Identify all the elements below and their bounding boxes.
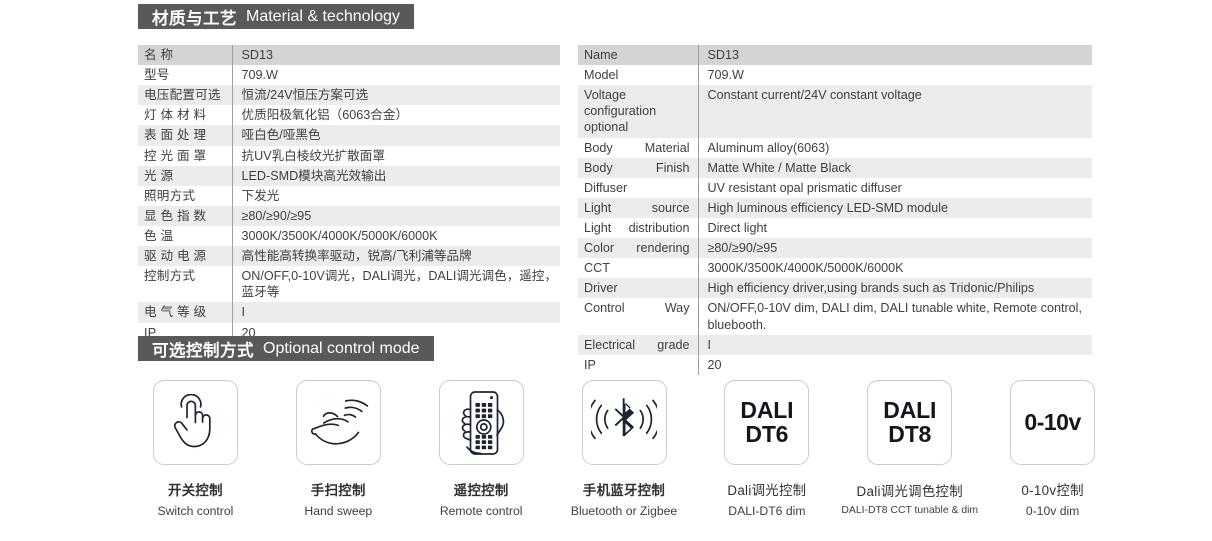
control-mode-card: 开关控制Switch control bbox=[124, 380, 267, 530]
control-mode-label-en: DALI-DT6 dim bbox=[728, 504, 805, 518]
hand-sweep-icon bbox=[307, 396, 369, 450]
spec-label: Diffuser bbox=[578, 178, 698, 198]
spec-value: UV resistant opal prismatic diffuser bbox=[698, 178, 1092, 198]
dali-dt8-icon-box: DALIDT8 bbox=[867, 380, 952, 465]
spec-label: 驱 动 电 源 bbox=[138, 246, 232, 266]
spec-label: 控制方式 bbox=[138, 266, 232, 302]
zero-ten-volt-icon-box: 0-10v bbox=[1010, 380, 1095, 465]
spec-value: 抗UV乳白棱纹光扩散面罩 bbox=[232, 146, 560, 166]
spec-label: 电 气 等 级 bbox=[138, 302, 232, 322]
dali-line-2: DT6 bbox=[740, 423, 793, 446]
control-mode-label-en: Hand sweep bbox=[304, 504, 372, 518]
control-mode-label-cn: Dali调光调色控制 bbox=[857, 480, 963, 500]
spec-label: Body Finish bbox=[578, 158, 698, 178]
spec-value: 下发光 bbox=[232, 186, 560, 206]
spec-value: 哑白色/哑黑色 bbox=[232, 125, 560, 145]
spec-label: Voltage configuration optional bbox=[578, 85, 698, 137]
table-row: 表 面 处 理哑白色/哑黑色 bbox=[138, 125, 560, 145]
spec-label: Driver bbox=[578, 278, 698, 298]
control-mode-label-en: Bluetooth or Zigbee bbox=[571, 504, 677, 518]
control-mode-labels: Dali调光控制DALI-DT6 dim bbox=[695, 479, 838, 517]
remote-in-hand-icon-box bbox=[439, 380, 524, 465]
table-row: 控 光 面 罩抗UV乳白棱纹光扩散面罩 bbox=[138, 146, 560, 166]
spec-label: Control Way bbox=[578, 298, 698, 334]
control-mode-card: DALIDT6Dali调光控制DALI-DT6 dim bbox=[695, 380, 838, 530]
remote-in-hand-icon bbox=[450, 388, 512, 458]
spec-label: Electrical grade bbox=[578, 335, 698, 355]
table-row: Voltage configuration optionalConstant c… bbox=[578, 85, 1092, 137]
dali-dt8-icon: DALIDT8 bbox=[883, 399, 936, 446]
control-mode-label-cn: 遥控控制 bbox=[454, 479, 509, 499]
table-row: Color rendering≥80/≥90/≥95 bbox=[578, 238, 1092, 258]
control-mode-card: 手机蓝牙控制Bluetooth or Zigbee bbox=[553, 380, 696, 530]
spec-label: Color rendering bbox=[578, 238, 698, 258]
spec-table-english: NameSD13Model709.WVoltage configuration … bbox=[578, 45, 1092, 375]
table-row: CCT3000K/3500K/4000K/5000K/6000K bbox=[578, 258, 1092, 278]
spec-value: I bbox=[232, 302, 560, 322]
spec-value: High luminous efficiency LED-SMD module bbox=[698, 198, 1092, 218]
control-mode-labels: Dali调光调色控制DALI-DT8 CCT tunable & dim bbox=[838, 479, 981, 517]
spec-table-english-body: NameSD13Model709.WVoltage configuration … bbox=[578, 45, 1092, 375]
table-row: Control WayON/OFF,0-10V dim, DALI dim, D… bbox=[578, 298, 1092, 334]
spec-value: LED-SMD模块高光效输出 bbox=[232, 166, 560, 186]
spec-label: CCT bbox=[578, 258, 698, 278]
spec-label: 显 色 指 数 bbox=[138, 206, 232, 226]
control-mode-label-cn: Dali调光控制 bbox=[727, 479, 806, 499]
spec-label: 光 源 bbox=[138, 166, 232, 186]
table-row: DriverHigh efficiency driver,using brand… bbox=[578, 278, 1092, 298]
spec-label: Name bbox=[578, 45, 698, 65]
tap-finger-icon-box bbox=[153, 380, 238, 465]
dali-line-2: DT8 bbox=[883, 423, 936, 446]
table-row: 照明方式下发光 bbox=[138, 186, 560, 206]
spec-label: 电压配置可选 bbox=[138, 85, 232, 105]
spec-label: 控 光 面 罩 bbox=[138, 146, 232, 166]
section-banner-control-en: Optional control mode bbox=[263, 340, 420, 358]
table-row: Body MaterialAluminum alloy(6063) bbox=[578, 138, 1092, 158]
table-row: 电压配置可选恒流/24V恒压方案可选 bbox=[138, 85, 560, 105]
spec-value: ≥80/≥90/≥95 bbox=[232, 206, 560, 226]
bluetooth-waves-icon-box bbox=[582, 380, 667, 465]
spec-label: 色 温 bbox=[138, 226, 232, 246]
spec-label: 表 面 处 理 bbox=[138, 125, 232, 145]
spec-value: Matte White / Matte Black bbox=[698, 158, 1092, 178]
zero-ten-volt-icon: 0-10v bbox=[1024, 409, 1080, 436]
table-row: IP20 bbox=[578, 355, 1092, 375]
control-mode-label-en: 0-10v dim bbox=[1026, 504, 1080, 518]
table-row: DiffuserUV resistant opal prismatic diff… bbox=[578, 178, 1092, 198]
tap-finger-icon bbox=[168, 394, 222, 452]
table-row: 灯 体 材 料优质阳极氧化铝（6063合金） bbox=[138, 105, 560, 125]
spec-value: Aluminum alloy(6063) bbox=[698, 138, 1092, 158]
spec-value: 709.W bbox=[698, 65, 1092, 85]
spec-label: 名 称 bbox=[138, 45, 232, 65]
control-mode-label-cn: 手机蓝牙控制 bbox=[583, 479, 665, 499]
table-row: Model709.W bbox=[578, 65, 1092, 85]
section-banner-control: 可选控制方式 Optional control mode bbox=[138, 336, 434, 361]
table-row: 控制方式ON/OFF,0-10V调光，DALI调光，DALI调光调色，遥控，蓝牙… bbox=[138, 266, 560, 302]
product-spec-sheet: 材质与工艺 Material & technology 名 称SD13型号709… bbox=[0, 0, 1212, 541]
table-row: 名 称SD13 bbox=[138, 45, 560, 65]
spec-label: 灯 体 材 料 bbox=[138, 105, 232, 125]
table-row: Body FinishMatte White / Matte Black bbox=[578, 158, 1092, 178]
spec-value: ≥80/≥90/≥95 bbox=[698, 238, 1092, 258]
table-row: 光 源LED-SMD模块高光效输出 bbox=[138, 166, 560, 186]
spec-label: Light distribution bbox=[578, 218, 698, 238]
dali-dt6-icon: DALIDT6 bbox=[740, 399, 793, 446]
control-mode-label-en: DALI-DT8 CCT tunable & dim bbox=[841, 505, 978, 516]
section-banner-material-cn: 材质与工艺 bbox=[152, 5, 237, 29]
control-mode-card-list: 开关控制Switch control手扫控制Hand sweep遥控控制Remo… bbox=[124, 380, 1124, 530]
table-row: 型号709.W bbox=[138, 65, 560, 85]
spec-value: ON/OFF,0-10V dim, DALI dim, DALI tunable… bbox=[698, 298, 1092, 334]
section-banner-control-cn: 可选控制方式 bbox=[152, 337, 254, 361]
spec-value: SD13 bbox=[698, 45, 1092, 65]
table-row: Light distributionDirect light bbox=[578, 218, 1092, 238]
table-row: 驱 动 电 源高性能高转换率驱动，锐高/飞利浦等品牌 bbox=[138, 246, 560, 266]
control-mode-card: 手扫控制Hand sweep bbox=[267, 380, 410, 530]
dali-line-1: DALI bbox=[883, 399, 936, 422]
table-row: NameSD13 bbox=[578, 45, 1092, 65]
control-mode-label-cn: 开关控制 bbox=[168, 479, 223, 499]
control-mode-card: 0-10v0-10v控制0-10v dim bbox=[981, 380, 1124, 530]
control-mode-labels: 开关控制Switch control bbox=[124, 479, 267, 517]
spec-value: 高性能高转换率驱动，锐高/飞利浦等品牌 bbox=[232, 246, 560, 266]
spec-label: 照明方式 bbox=[138, 186, 232, 206]
control-mode-label-cn: 手扫控制 bbox=[311, 479, 366, 499]
control-mode-label-cn: 0-10v控制 bbox=[1021, 479, 1083, 499]
spec-value: ON/OFF,0-10V调光，DALI调光，DALI调光调色，遥控，蓝牙等 bbox=[232, 266, 560, 302]
spec-label: IP bbox=[578, 355, 698, 375]
spec-table-chinese: 名 称SD13型号709.W电压配置可选恒流/24V恒压方案可选灯 体 材 料优… bbox=[138, 45, 560, 343]
control-mode-labels: 手扫控制Hand sweep bbox=[267, 479, 410, 517]
spec-value: I bbox=[698, 335, 1092, 355]
control-mode-label-en: Remote control bbox=[440, 504, 523, 518]
table-row: Electrical gradeI bbox=[578, 335, 1092, 355]
control-mode-labels: 手机蓝牙控制Bluetooth or Zigbee bbox=[553, 479, 696, 517]
control-mode-label-en: Switch control bbox=[157, 504, 233, 518]
spec-label: Light source bbox=[578, 198, 698, 218]
table-row: 色 温3000K/3500K/4000K/5000K/6000K bbox=[138, 226, 560, 246]
spec-label: Model bbox=[578, 65, 698, 85]
spec-value: 3000K/3500K/4000K/5000K/6000K bbox=[232, 226, 560, 246]
spec-value: 20 bbox=[698, 355, 1092, 375]
spec-value: 恒流/24V恒压方案可选 bbox=[232, 85, 560, 105]
bluetooth-waves-icon bbox=[591, 397, 657, 449]
spec-label: 型号 bbox=[138, 65, 232, 85]
table-row: Light sourceHigh luminous efficiency LED… bbox=[578, 198, 1092, 218]
spec-value: 709.W bbox=[232, 65, 560, 85]
table-row: 显 色 指 数≥80/≥90/≥95 bbox=[138, 206, 560, 226]
spec-value: 优质阳极氧化铝（6063合金） bbox=[232, 105, 560, 125]
control-mode-labels: 0-10v控制0-10v dim bbox=[981, 479, 1124, 517]
section-banner-material-en: Material & technology bbox=[246, 8, 400, 26]
control-mode-card: 遥控控制Remote control bbox=[410, 380, 553, 530]
hand-sweep-icon-box bbox=[296, 380, 381, 465]
section-banner-material: 材质与工艺 Material & technology bbox=[138, 4, 414, 29]
dali-dt6-icon-box: DALIDT6 bbox=[724, 380, 809, 465]
table-row: 电 气 等 级I bbox=[138, 302, 560, 322]
spec-value: High efficiency driver,using brands such… bbox=[698, 278, 1092, 298]
dali-line-1: DALI bbox=[740, 399, 793, 422]
control-mode-card: DALIDT8Dali调光调色控制DALI-DT8 CCT tunable & … bbox=[838, 380, 981, 530]
spec-table-chinese-body: 名 称SD13型号709.W电压配置可选恒流/24V恒压方案可选灯 体 材 料优… bbox=[138, 45, 560, 343]
spec-label: Body Material bbox=[578, 138, 698, 158]
spec-value: Constant current/24V constant voltage bbox=[698, 85, 1092, 137]
spec-value: 3000K/3500K/4000K/5000K/6000K bbox=[698, 258, 1092, 278]
control-mode-labels: 遥控控制Remote control bbox=[410, 479, 553, 517]
spec-value: Direct light bbox=[698, 218, 1092, 238]
spec-value: SD13 bbox=[232, 45, 560, 65]
